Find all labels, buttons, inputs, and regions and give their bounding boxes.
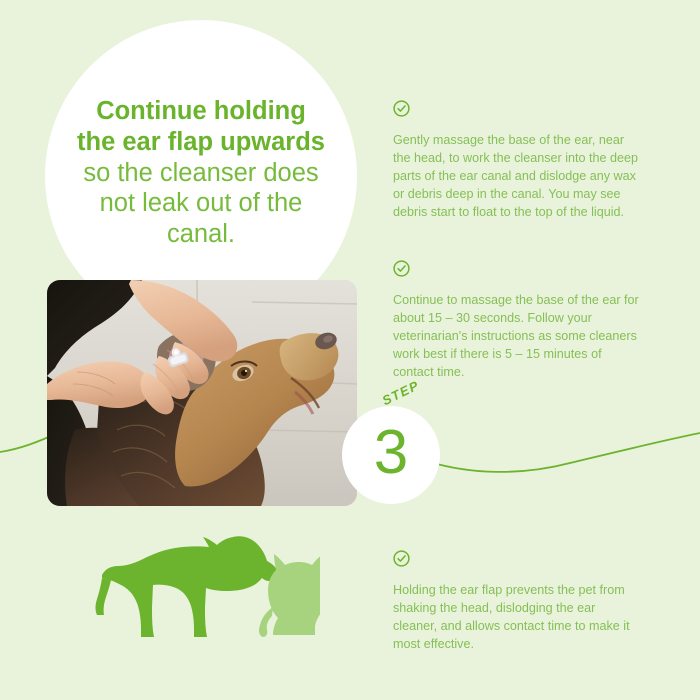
info-block-2: Continue to massage the base of the ear …: [393, 260, 639, 381]
step-label: STEP: [380, 377, 422, 408]
ear-cleaning-photo: [47, 280, 357, 506]
pet-silhouettes: [95, 533, 320, 648]
info-block-1: Gently massage the base of the ear, near…: [393, 100, 639, 221]
check-circle-icon: [393, 550, 639, 572]
info-text-3: Holding the ear flap prevents the pet fr…: [393, 582, 639, 654]
check-circle-icon: [393, 100, 639, 122]
headline-line-2: the ear flap upwards: [67, 127, 335, 158]
info-text-2: Continue to massage the base of the ear …: [393, 292, 639, 381]
headline-line-5: canal.: [167, 220, 235, 248]
headline-line-3: so the cleanser does: [83, 159, 318, 187]
headline-line-1: Continue holding: [67, 96, 335, 127]
info-block-3: Holding the ear flap prevents the pet fr…: [393, 550, 639, 654]
step-number: 3: [374, 422, 408, 488]
info-text-1: Gently massage the base of the ear, near…: [393, 132, 639, 221]
infographic-poster: Continue holding the ear flap upwards so…: [0, 0, 700, 700]
headline-line-4: not leak out of the: [100, 189, 303, 217]
check-circle-icon: [393, 260, 639, 282]
headline-text: Continue holding the ear flap upwards so…: [67, 96, 335, 256]
dog-silhouette-icon: [96, 536, 279, 637]
step-badge: 3: [342, 406, 440, 504]
